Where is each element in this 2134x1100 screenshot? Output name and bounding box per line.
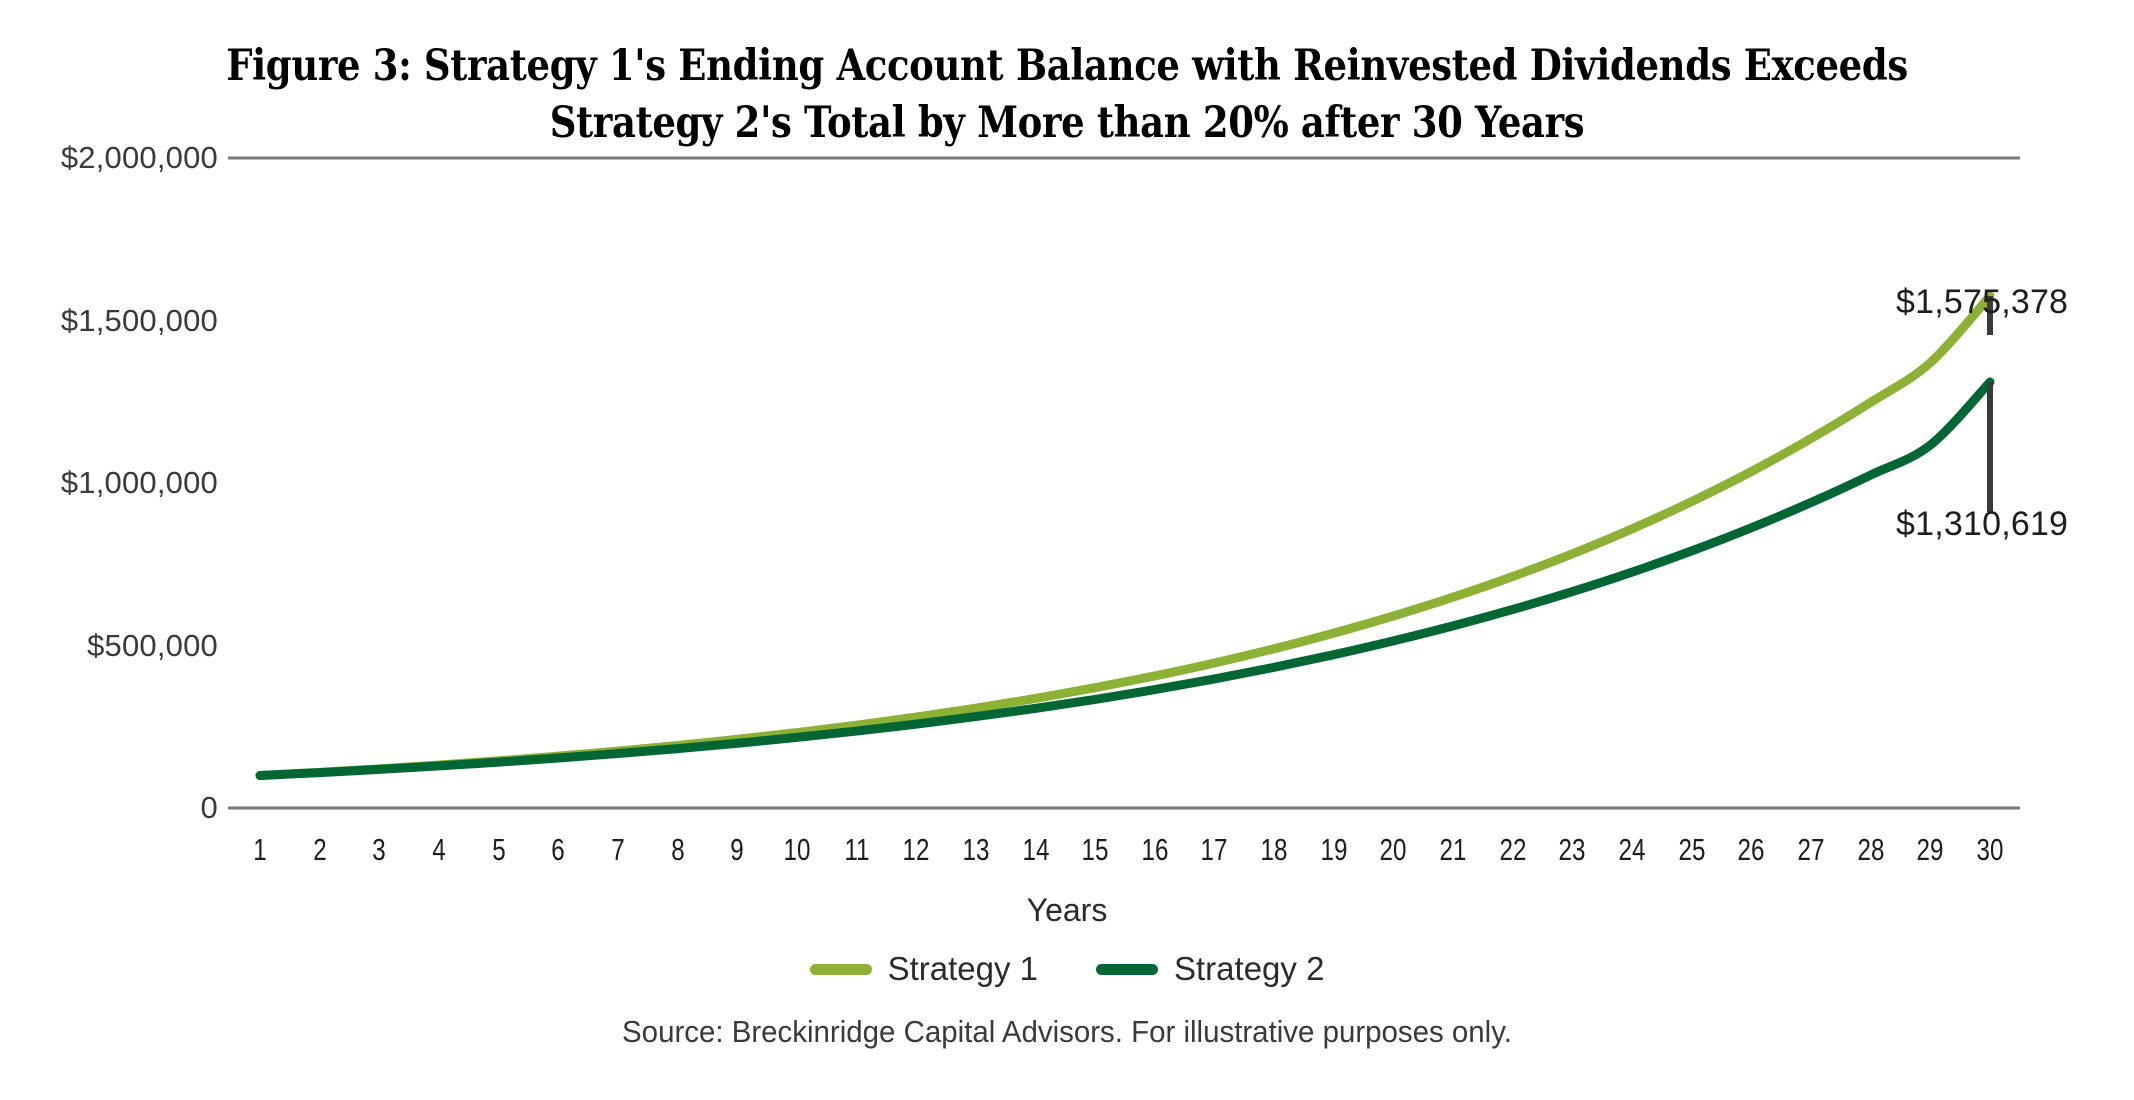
y-axis-tick-label: $500,000 bbox=[8, 628, 218, 664]
x-axis-tick-label: 7 bbox=[587, 832, 649, 868]
data-label-strategy-2: $1,310,619 bbox=[1896, 505, 2068, 544]
x-axis-title: Years bbox=[0, 892, 2134, 929]
x-axis-tick-label: 21 bbox=[1422, 832, 1484, 868]
x-axis-tick-label: 26 bbox=[1720, 832, 1782, 868]
x-axis-tick-label: 13 bbox=[945, 832, 1007, 868]
x-axis-tick-label: 17 bbox=[1183, 832, 1245, 868]
x-axis-tick-label: 23 bbox=[1541, 832, 1603, 868]
plot-area: 0$500,000$1,000,000$1,500,000$2,000,000 … bbox=[0, 0, 2134, 1100]
y-axis-tick-label: $1,000,000 bbox=[8, 465, 218, 501]
series-line-2 bbox=[260, 382, 1990, 775]
legend-label: Strategy 2 bbox=[1174, 950, 1324, 988]
x-axis-tick-label: 2 bbox=[288, 832, 350, 868]
x-axis-tick-label: 8 bbox=[646, 832, 708, 868]
x-axis-tick-label: 18 bbox=[1243, 832, 1305, 868]
y-axis-tick-label: 0 bbox=[8, 790, 218, 826]
x-axis-tick-label: 3 bbox=[348, 832, 410, 868]
x-axis-tick-label: 30 bbox=[1959, 832, 2021, 868]
legend-swatch-icon bbox=[810, 964, 872, 975]
x-axis-tick-label: 11 bbox=[825, 832, 887, 868]
x-axis-tick-label: 28 bbox=[1839, 832, 1901, 868]
legend-swatch-icon bbox=[1096, 964, 1158, 975]
x-axis-tick-label: 1 bbox=[229, 832, 291, 868]
x-axis-tick-label: 19 bbox=[1303, 832, 1365, 868]
x-axis-tick-label: 5 bbox=[467, 832, 529, 868]
x-axis-tick-label: 22 bbox=[1482, 832, 1544, 868]
x-axis-tick-label: 4 bbox=[408, 832, 470, 868]
x-axis-tick-label: 27 bbox=[1780, 832, 1842, 868]
legend-item-1[interactable]: Strategy 1 bbox=[810, 950, 1038, 988]
x-axis-tick-label: 14 bbox=[1004, 832, 1066, 868]
x-axis-tick-label: 9 bbox=[706, 832, 768, 868]
data-label-strategy-1: $1,575,378 bbox=[1896, 283, 2068, 322]
x-axis-tick-label: 16 bbox=[1124, 832, 1186, 868]
y-axis-tick-label: $2,000,000 bbox=[8, 140, 218, 176]
source-note: Source: Breckinridge Capital Advisors. F… bbox=[53, 1014, 2080, 1050]
x-axis-tick-label: 12 bbox=[885, 832, 947, 868]
x-axis-tick-label: 20 bbox=[1362, 832, 1424, 868]
y-axis-ticks: 0$500,000$1,000,000$1,500,000$2,000,000 bbox=[0, 0, 218, 1100]
x-axis-tick-label: 24 bbox=[1601, 832, 1663, 868]
x-axis-tick-label: 29 bbox=[1899, 832, 1961, 868]
chart-legend: Strategy 1Strategy 2 bbox=[0, 950, 2134, 988]
line-chart-svg bbox=[0, 0, 2134, 1100]
x-axis-tick-label: 25 bbox=[1661, 832, 1723, 868]
y-axis-tick-label: $1,500,000 bbox=[8, 303, 218, 339]
figure-container: Figure 3: Strategy 1's Ending Account Ba… bbox=[0, 0, 2134, 1100]
x-axis-tick-label: 6 bbox=[527, 832, 589, 868]
x-axis-tick-label: 15 bbox=[1064, 832, 1126, 868]
legend-label: Strategy 1 bbox=[888, 950, 1038, 988]
series-group bbox=[260, 296, 1990, 776]
x-axis-tick-label: 10 bbox=[766, 832, 828, 868]
legend-item-2[interactable]: Strategy 2 bbox=[1096, 950, 1324, 988]
